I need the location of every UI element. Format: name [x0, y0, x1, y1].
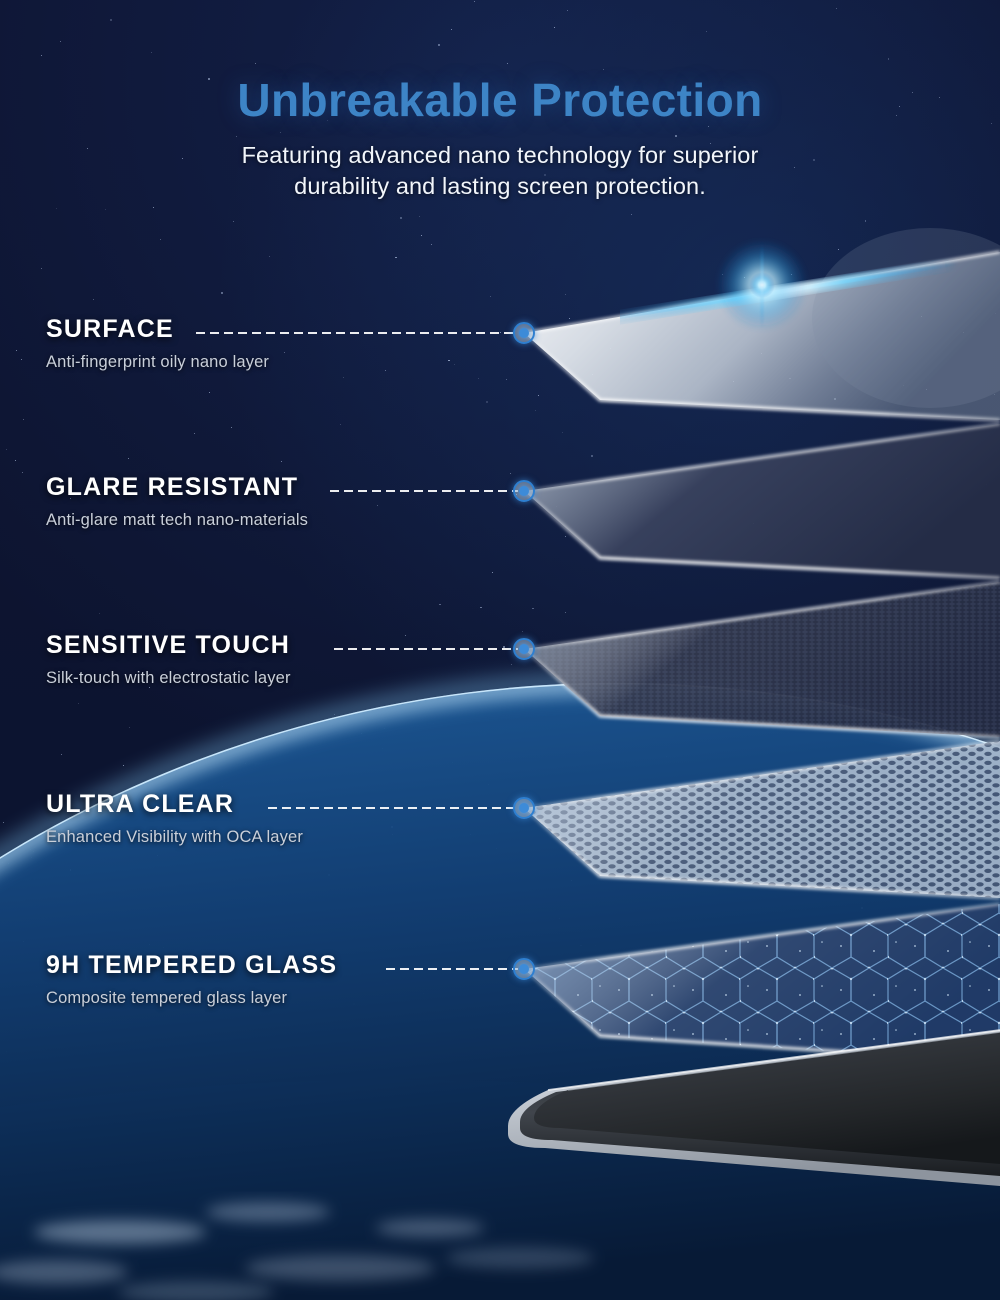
marker-dot-icon [519, 486, 529, 496]
callout-sensitive-touch[interactable]: SENSITIVE TOUCH Silk-touch with electros… [46, 632, 291, 688]
subtitle-line-2: durability and lasting screen protection… [294, 173, 706, 199]
callout-subtitle-sensitive-touch: Silk-touch with electrostatic layer [46, 668, 291, 688]
marker-surface[interactable] [513, 322, 535, 344]
connector-line-ultra-clear [268, 807, 518, 809]
connector-line-glare-resistant [330, 490, 518, 492]
marker-ultra-clear[interactable] [513, 797, 535, 819]
marker-glare-resistant[interactable] [513, 480, 535, 502]
callout-title-9h-tempered-glass: 9H TEMPERED GLASS [46, 952, 337, 979]
callout-title-surface: SURFACE [46, 316, 269, 343]
callout-subtitle-ultra-clear: Enhanced Visibility with OCA layer [46, 827, 303, 847]
subtitle-line-1: Featuring advanced nano technology for s… [242, 142, 759, 168]
callout-title-glare-resistant: GLARE RESISTANT [46, 474, 308, 501]
infographic-canvas: Unbreakable Protection Featuring advance… [0, 0, 1000, 1300]
header-block: Unbreakable Protection Featuring advance… [0, 0, 1000, 202]
callout-glare-resistant[interactable]: GLARE RESISTANT Anti-glare matt tech nan… [46, 474, 308, 530]
marker-9h-tempered-glass[interactable] [513, 958, 535, 980]
connector-line-sensitive-touch [334, 648, 518, 650]
callout-subtitle-glare-resistant: Anti-glare matt tech nano-materials [46, 510, 308, 530]
connector-line-surface [196, 332, 518, 334]
callout-9h-tempered-glass[interactable]: 9H TEMPERED GLASS Composite tempered gla… [46, 952, 337, 1008]
callout-subtitle-9h-tempered-glass: Composite tempered glass layer [46, 988, 337, 1008]
marker-dot-icon [519, 328, 529, 338]
callout-title-ultra-clear: ULTRA CLEAR [46, 791, 303, 818]
callout-title-sensitive-touch: SENSITIVE TOUCH [46, 632, 291, 659]
callout-subtitle-surface: Anti-fingerprint oily nano layer [46, 352, 269, 372]
marker-sensitive-touch[interactable] [513, 638, 535, 660]
connector-line-9h-tempered-glass [386, 968, 518, 970]
page-title: Unbreakable Protection [0, 0, 1000, 126]
page-subtitle: Featuring advanced nano technology for s… [190, 140, 810, 202]
callout-surface[interactable]: SURFACE Anti-fingerprint oily nano layer [46, 316, 269, 372]
marker-dot-icon [519, 803, 529, 813]
marker-dot-icon [519, 964, 529, 974]
marker-dot-icon [519, 644, 529, 654]
callout-ultra-clear[interactable]: ULTRA CLEAR Enhanced Visibility with OCA… [46, 791, 303, 847]
